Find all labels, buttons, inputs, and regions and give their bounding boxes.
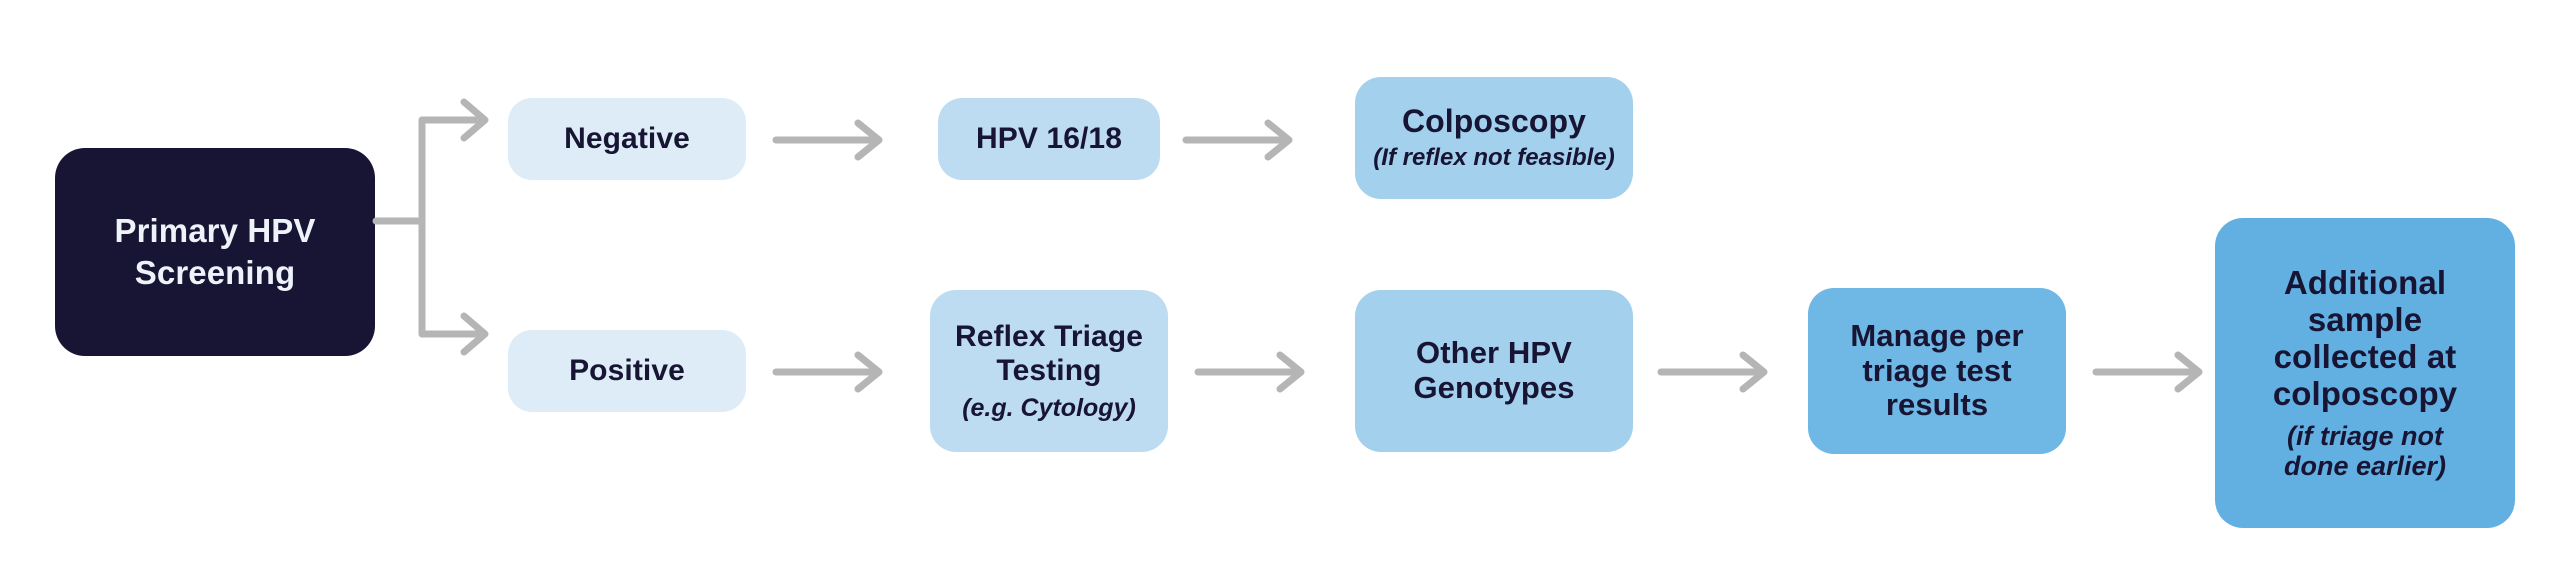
node-positive-label: Positive — [569, 354, 685, 388]
connector-hpv1618-to-colposcopy — [1180, 118, 1308, 162]
flowchart-canvas: Primary HPV Screening Negative HPV 16/18 — [0, 0, 2560, 574]
node-primary-hpv-screening[interactable]: Primary HPV Screening — [55, 148, 375, 356]
branch-split-icon — [370, 66, 510, 376]
connector-genotypes-to-manage — [1655, 350, 1783, 394]
connector-negative-to-hpv1618 — [770, 118, 898, 162]
connector-manage-to-additional — [2090, 350, 2218, 394]
node-manage-line3: results — [1886, 387, 1988, 422]
node-primary-label: Primary HPV Screening — [114, 210, 315, 294]
arrow-right-icon — [1180, 118, 1308, 162]
node-reflex-label: Reflex Triage Testing — [955, 320, 1143, 387]
node-additional-sub1: (if triage not — [2287, 421, 2443, 451]
node-additional-line1: Additional — [2284, 264, 2446, 301]
node-reflex-triage-testing[interactable]: Reflex Triage Testing (e.g. Cytology) — [930, 290, 1168, 452]
node-additional-line3: collected at — [2274, 338, 2457, 375]
node-genotypes-line2: Genotypes — [1413, 370, 1574, 405]
node-genotypes-label: Other HPV Genotypes — [1413, 336, 1574, 405]
arrow-right-icon — [2090, 350, 2218, 394]
arrow-right-icon — [1655, 350, 1783, 394]
node-manage-label: Manage per triage test results — [1850, 319, 2023, 423]
node-manage-line1: Manage per — [1850, 318, 2023, 353]
node-additional-sublabel: (if triage not done earlier) — [2284, 421, 2446, 481]
node-negative-result[interactable]: Negative — [508, 98, 746, 180]
connector-positive-to-reflex — [770, 350, 898, 394]
node-colposcopy-label: Colposcopy — [1402, 104, 1586, 140]
node-additional-line4: colposcopy — [2273, 375, 2457, 412]
node-reflex-line2: Testing — [996, 354, 1101, 387]
node-manage-per-triage-results[interactable]: Manage per triage test results — [1808, 288, 2066, 454]
node-colposcopy-sublabel: (If reflex not feasible) — [1373, 145, 1614, 172]
node-hpv-16-18[interactable]: HPV 16/18 — [938, 98, 1160, 180]
node-primary-line2: Screening — [135, 254, 295, 291]
connector-reflex-to-genotypes — [1192, 350, 1320, 394]
node-reflex-line1: Reflex Triage — [955, 320, 1143, 353]
arrow-right-icon — [770, 350, 898, 394]
node-additional-sub2: done earlier) — [2284, 451, 2446, 481]
node-other-hpv-genotypes[interactable]: Other HPV Genotypes — [1355, 290, 1633, 452]
node-reflex-sublabel: (e.g. Cytology) — [962, 394, 1136, 422]
node-colposcopy[interactable]: Colposcopy (If reflex not feasible) — [1355, 77, 1633, 199]
node-positive-result[interactable]: Positive — [508, 330, 746, 412]
node-additional-sample-at-colposcopy[interactable]: Additional sample collected at colposcop… — [2215, 218, 2515, 528]
node-additional-label: Additional sample collected at colposcop… — [2273, 265, 2457, 413]
arrow-right-icon — [770, 118, 898, 162]
arrow-right-icon — [1192, 350, 1320, 394]
connector-branch-split — [370, 66, 510, 376]
node-hpv1618-label: HPV 16/18 — [976, 122, 1122, 156]
node-manage-line2: triage test — [1862, 353, 2011, 388]
node-additional-line2: sample — [2308, 301, 2422, 338]
node-genotypes-line1: Other HPV — [1416, 335, 1572, 370]
node-negative-label: Negative — [564, 122, 690, 156]
node-primary-line1: Primary HPV — [114, 212, 315, 249]
